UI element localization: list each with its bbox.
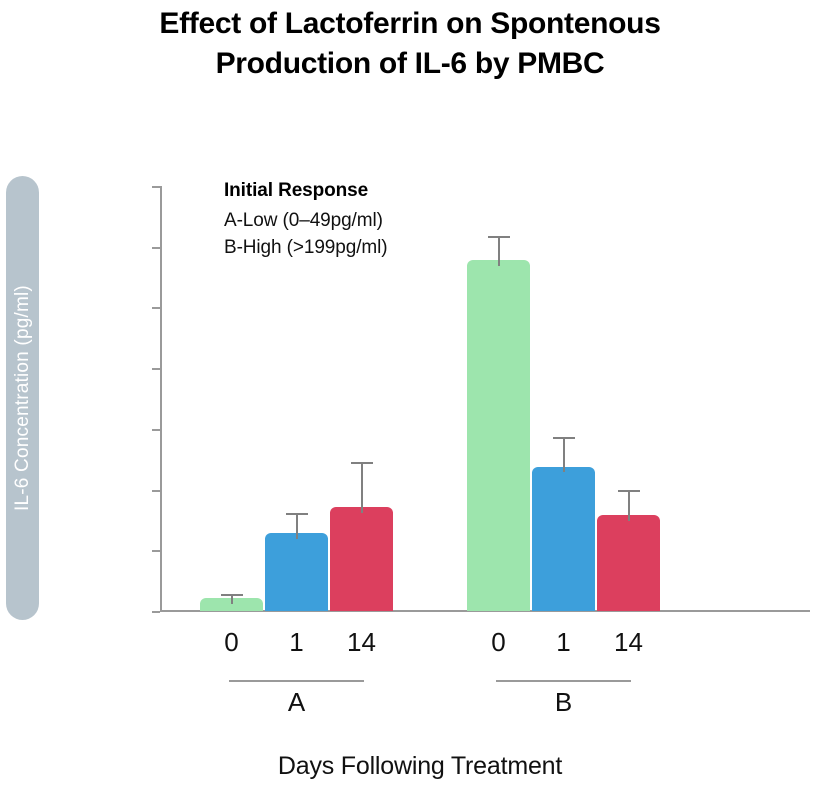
chart-figure: Effect of Lactoferrin on Spontenous Prod… — [0, 0, 820, 790]
y-axis-tick — [152, 611, 160, 613]
error-bar-cap — [553, 437, 575, 439]
bar-b-day0[interactable] — [467, 260, 530, 611]
bar-b-day14[interactable] — [597, 515, 660, 611]
chart-title: Effect of Lactoferrin on Spontenous Prod… — [110, 4, 710, 83]
error-bar-cap — [221, 594, 243, 596]
error-bar-stem — [361, 462, 363, 513]
x-axis-tick-label: 0 — [464, 627, 534, 658]
legend: Initial Response A-Low (0–49pg/ml) B-Hig… — [224, 180, 524, 262]
x-axis-tick-label: 14 — [327, 627, 397, 658]
error-bar-cap — [618, 490, 640, 492]
y-axis-tick — [152, 490, 160, 492]
group-rule-a — [229, 680, 364, 682]
bar-a-day14[interactable] — [330, 507, 393, 611]
error-bar-cap — [351, 462, 373, 464]
error-bar-stem — [296, 513, 298, 540]
y-axis-label: IL-6 Concentration (pg/ml) — [12, 285, 34, 511]
y-axis-tick — [152, 368, 160, 370]
legend-title: Initial Response — [224, 180, 524, 202]
group-label-b: B — [464, 687, 664, 718]
group-label-a: A — [197, 687, 397, 718]
group-rule-b — [496, 680, 631, 682]
bar-b-day1[interactable] — [532, 467, 595, 612]
x-axis-tick-label: 1 — [262, 627, 332, 658]
x-axis-tick-label: 14 — [594, 627, 664, 658]
legend-entry-b: B-High (>199pg/ml) — [224, 235, 524, 262]
chart-title-line-1: Effect of Lactoferrin on Spontenous — [110, 4, 710, 44]
error-bar-stem — [628, 490, 630, 522]
y-axis-label-pill: IL-6 Concentration (pg/ml) — [6, 176, 39, 620]
y-axis-tick — [152, 247, 160, 249]
y-axis-tick — [152, 186, 160, 188]
error-bar-stem — [563, 437, 565, 472]
chart-title-line-2: Production of IL-6 by PMBC — [110, 44, 710, 84]
error-bar-cap — [286, 513, 308, 515]
legend-entry-a: A-Low (0–49pg/ml) — [224, 208, 524, 235]
y-axis-tick — [152, 429, 160, 431]
x-axis-tick-label: 1 — [529, 627, 599, 658]
x-axis-title: Days Following Treatment — [110, 752, 730, 781]
x-axis-tick-label: 0 — [197, 627, 267, 658]
bar-a-day1[interactable] — [265, 533, 328, 611]
y-axis-tick — [152, 550, 160, 552]
y-axis-tick — [152, 307, 160, 309]
